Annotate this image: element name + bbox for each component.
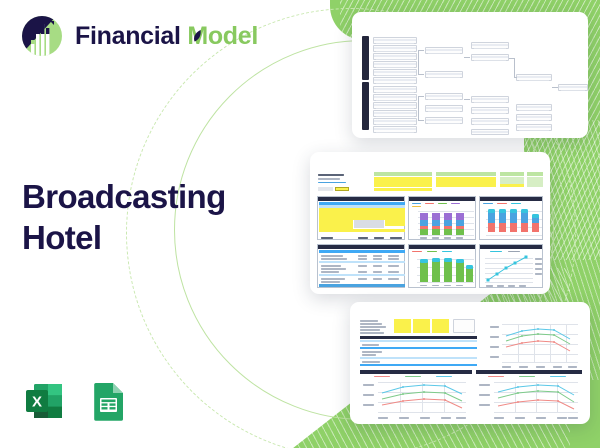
debt-row[interactable] [436, 177, 496, 180]
scenario-input-cell[interactable] [394, 319, 411, 333]
data-label-badge [466, 265, 473, 269]
table-cell [388, 265, 399, 267]
node-interest-expense [373, 69, 417, 76]
node-gross-margin [471, 42, 509, 49]
x-axis-tick [502, 366, 511, 368]
brand-logo[interactable]: Financial Model [20, 14, 258, 58]
chart-title-bar [476, 370, 582, 374]
table-cell [358, 255, 367, 257]
table-cell [373, 278, 382, 280]
node-current-liabilities [373, 110, 417, 117]
brand-name-part2: Model [187, 22, 258, 51]
balance-sheet-rail [362, 82, 369, 130]
cash-flow-chart-panel[interactable] [408, 244, 476, 288]
y-axis-tick [490, 326, 499, 328]
legend-item [425, 203, 434, 204]
data-label-badge [444, 258, 452, 262]
table-row [360, 357, 477, 359]
node-accounts-receivable [373, 86, 417, 93]
table-row [319, 274, 405, 276]
node-revenue [373, 37, 417, 44]
line-series-group [378, 380, 466, 414]
pie-chart-circle-logo-icon [20, 14, 64, 58]
y-axis-tick [363, 384, 374, 386]
legend-item [497, 203, 507, 204]
table-row-label [360, 323, 382, 325]
table-row [360, 347, 477, 349]
x-axis-tick [444, 237, 451, 239]
panel-header [409, 245, 475, 249]
table-cell [388, 258, 399, 260]
data-label-badge [510, 209, 517, 213]
table-cell [362, 351, 382, 353]
x-axis-tick [399, 417, 409, 419]
legend-item [483, 203, 493, 204]
dashboard-input-cell[interactable] [335, 187, 349, 191]
debt-row[interactable] [436, 180, 496, 183]
table-cell [373, 265, 382, 267]
metric-row [527, 184, 543, 187]
table-row-label [360, 326, 386, 328]
kpi-row [500, 177, 524, 180]
table-cell [358, 258, 367, 260]
table-cell [388, 271, 399, 273]
legend-item [550, 376, 566, 377]
x-axis-tick [497, 285, 504, 287]
x-axis-tick [568, 366, 577, 368]
table-row [360, 340, 477, 342]
data-label-badge [521, 209, 528, 213]
table-cell [362, 354, 376, 356]
node-leverage [516, 104, 552, 111]
page-title-line1: Broadcasting [22, 177, 272, 218]
table-row-label [321, 278, 345, 280]
table-row-label [321, 258, 347, 260]
assumptions-header [374, 172, 432, 176]
data-label-badge [456, 259, 464, 263]
brand-name-part1: Financial [75, 22, 187, 50]
data-label-badge [499, 209, 506, 213]
total-value [358, 237, 368, 239]
node-total-assets [425, 105, 463, 112]
node-operating-expenses [373, 53, 417, 60]
x-axis-tick [444, 285, 451, 287]
scenario-charts-preview[interactable] [350, 302, 590, 424]
x-axis-tick [536, 417, 546, 419]
table-row-label [321, 271, 339, 273]
node-current-ratio [516, 114, 552, 121]
node-revenue-2 [425, 71, 463, 78]
assumption-row[interactable] [374, 188, 432, 191]
x-axis-tick [432, 285, 439, 287]
node-ar-turnover [471, 107, 509, 114]
table-row-label [321, 268, 346, 270]
x-axis-tick [553, 366, 562, 368]
table-row-label [360, 320, 378, 322]
x-axis-tick [432, 237, 439, 239]
debt-schedule-header [436, 172, 496, 176]
node-financial-leverage [516, 124, 552, 131]
panel-header [480, 245, 542, 249]
y-axis-tick [490, 356, 499, 358]
y-axis-tick [535, 273, 542, 275]
metric-row [527, 177, 543, 180]
node-current-assets [373, 94, 417, 101]
node-equity [373, 126, 417, 133]
table-cell [362, 361, 380, 363]
x-axis-tick [378, 417, 388, 419]
x-axis-tick [456, 285, 463, 287]
kpi-header [500, 172, 524, 176]
debt-row[interactable] [436, 184, 496, 187]
income-statement-rail [362, 36, 369, 80]
legend-item [412, 206, 421, 207]
x-axis-tick [420, 285, 427, 287]
brand-name: Financial Model [75, 22, 258, 51]
kpi-row [500, 180, 524, 183]
legend-item [451, 203, 460, 204]
data-label-badge [532, 214, 539, 218]
legend-item [508, 251, 520, 252]
node-revenue-3 [425, 93, 463, 100]
ebitda-comparison-chart[interactable] [360, 370, 472, 422]
node-corporate-taxes [373, 77, 417, 84]
dupont-analysis-diagram-preview[interactable] [352, 12, 588, 138]
table-column-header [319, 250, 405, 253]
table-cell [362, 344, 379, 346]
cash-inputs-panel[interactable] [317, 196, 405, 240]
node-depreciation [373, 61, 417, 68]
legend-item [374, 376, 390, 377]
metric-row [527, 180, 543, 183]
node-net-profit-margin [471, 54, 509, 61]
table-cell [373, 271, 382, 273]
microsoft-excel-icon[interactable]: X [22, 378, 68, 424]
dashboard-title-label [318, 174, 344, 176]
panel-header [480, 197, 542, 201]
y-axis-tick [363, 394, 374, 396]
y-axis-tick [535, 263, 542, 265]
y-axis-tick [479, 394, 490, 396]
table-row-label [321, 281, 340, 283]
x-axis-tick [515, 417, 525, 419]
line-series-group [502, 322, 578, 364]
revenue-comparison-chart[interactable] [488, 318, 582, 370]
legend-item [519, 376, 535, 377]
google-sheets-icon[interactable] [85, 378, 131, 424]
node-total-liabilities [425, 117, 463, 124]
x-axis-tick [486, 285, 493, 287]
panel-header [318, 197, 404, 201]
table-total-row [360, 364, 477, 366]
investment-payback-chart-panel[interactable] [479, 244, 543, 288]
table-merged-cell [354, 220, 384, 228]
profitability-chart-panel[interactable] [479, 196, 543, 240]
table-cell [373, 258, 382, 260]
node-return-on-total-assets [516, 74, 552, 81]
y-axis-tick [479, 384, 490, 386]
kpi-row[interactable] [500, 184, 524, 187]
x-axis-tick [508, 285, 515, 287]
table-cell [358, 278, 367, 280]
panel-header [318, 245, 404, 249]
x-axis-tick [420, 237, 427, 239]
uses-financials-panel[interactable] [317, 244, 405, 288]
table-cell [388, 278, 399, 280]
data-label-badge [488, 209, 495, 213]
table-cell [373, 255, 382, 257]
node-total-debt-equity [471, 118, 509, 125]
x-axis-tick [519, 366, 528, 368]
y-axis-tick [535, 258, 542, 260]
table-row-label [360, 332, 384, 334]
page-title: Broadcasting Hotel [22, 177, 272, 259]
financial-dashboard-preview[interactable] [310, 152, 550, 294]
chart-title-bar [360, 370, 472, 374]
x-axis-tick [420, 417, 430, 419]
total-label [321, 237, 333, 239]
x-axis-tick [456, 417, 466, 419]
total-value [374, 237, 384, 239]
node-non-current-assets [373, 102, 417, 109]
file-format-icons: X [22, 378, 131, 424]
x-axis-tick [519, 285, 526, 287]
revenue-streams-chart-panel[interactable] [408, 196, 476, 240]
dashboard-button[interactable] [318, 187, 333, 191]
assumption-row[interactable] [374, 177, 432, 180]
scenario-input-cell[interactable] [432, 319, 449, 333]
panel-header [409, 197, 475, 201]
page-title-line2: Hotel [22, 218, 272, 259]
x-axis-tick [441, 417, 451, 419]
scenario-table[interactable] [360, 320, 460, 362]
table-row-label [321, 265, 341, 267]
total-value [390, 237, 402, 239]
company-name-label [318, 178, 340, 180]
legend-item [436, 376, 452, 377]
net-income-comparison-chart[interactable] [476, 370, 582, 422]
table-row-label [321, 255, 343, 257]
x-axis-tick [456, 237, 463, 239]
legend-item [412, 203, 421, 204]
x-axis-tick [494, 417, 504, 419]
legend-item [438, 203, 447, 204]
table-row[interactable] [319, 229, 405, 232]
node-return-on-equity [558, 84, 588, 91]
y-axis-tick [479, 404, 490, 406]
table-row [319, 261, 405, 263]
x-axis-tick [557, 417, 567, 419]
data-label-badge [432, 258, 440, 262]
table-row-label [360, 329, 380, 331]
node-total-asset-turnover [471, 96, 509, 103]
line-series-group [494, 380, 578, 414]
table-cell [358, 265, 367, 267]
scenario-output-cell [453, 319, 475, 333]
legend-item [488, 376, 504, 377]
table-cell [358, 271, 367, 273]
legend-item [511, 203, 521, 204]
assumption-row[interactable] [374, 184, 432, 187]
y-axis-tick [535, 268, 542, 270]
legend-item [442, 251, 452, 252]
node-cost-of-revenue [373, 45, 417, 52]
table-row[interactable] [385, 223, 405, 226]
legend-item [405, 376, 421, 377]
node-net-income [425, 47, 463, 54]
x-axis-tick [568, 417, 578, 419]
payback-line-series [485, 254, 533, 284]
assumption-row[interactable] [374, 180, 432, 183]
data-label-badge [420, 259, 428, 263]
y-axis-tick [490, 346, 499, 348]
legend-item [412, 251, 422, 252]
x-axis-tick [536, 366, 545, 368]
metric-header [527, 172, 543, 176]
legend-item [427, 251, 437, 252]
y-axis-tick [490, 336, 499, 338]
subtitle-label [318, 182, 346, 184]
y-axis-tick [363, 404, 374, 406]
leaf-icon [193, 30, 202, 43]
node-shareholders-equity [471, 129, 509, 135]
table-cell [388, 255, 399, 257]
legend-item [490, 251, 502, 252]
svg-text:X: X [32, 394, 42, 411]
node-non-current-liabilities [373, 118, 417, 125]
table-total-row [319, 284, 405, 287]
scenario-input-cell[interactable] [413, 319, 430, 333]
